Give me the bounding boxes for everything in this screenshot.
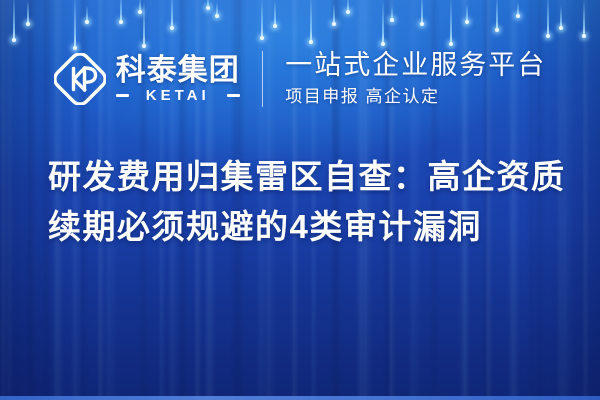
headline-line-2: 续期必须规避的4类审计漏洞 bbox=[48, 202, 570, 252]
promo-banner: 科泰集团 KETAI 一站式企业服务平台 项目申报 高企认定 研发费用归集雷区自… bbox=[0, 0, 600, 400]
dash-right-icon bbox=[227, 94, 240, 97]
brand-logo[interactable]: 科泰集团 KETAI bbox=[54, 53, 240, 105]
headline: 研发费用归集雷区自查：高企资质 续期必须规避的4类审计漏洞 bbox=[48, 152, 570, 252]
brand-name-en-row: KETAI bbox=[116, 88, 240, 103]
bottom-accent-strip bbox=[0, 396, 600, 400]
ketai-diamond-kp-monogram-icon bbox=[54, 53, 106, 105]
dash-left-icon bbox=[116, 94, 129, 97]
brand-wordmark: 科泰集团 KETAI bbox=[116, 55, 240, 104]
headline-line-1: 研发费用归集雷区自查：高企资质 bbox=[48, 152, 570, 202]
slogan-secondary: 项目申报 高企认定 bbox=[285, 86, 546, 107]
brand-name-en: KETAI bbox=[134, 88, 222, 103]
slogan-primary: 一站式企业服务平台 bbox=[285, 50, 546, 82]
header-slogan: 一站式企业服务平台 项目申报 高企认定 bbox=[285, 50, 546, 107]
header-divider bbox=[262, 51, 264, 107]
banner-header: 科泰集团 KETAI 一站式企业服务平台 项目申报 高企认定 bbox=[0, 44, 600, 114]
brand-name-cn: 科泰集团 bbox=[116, 55, 240, 87]
